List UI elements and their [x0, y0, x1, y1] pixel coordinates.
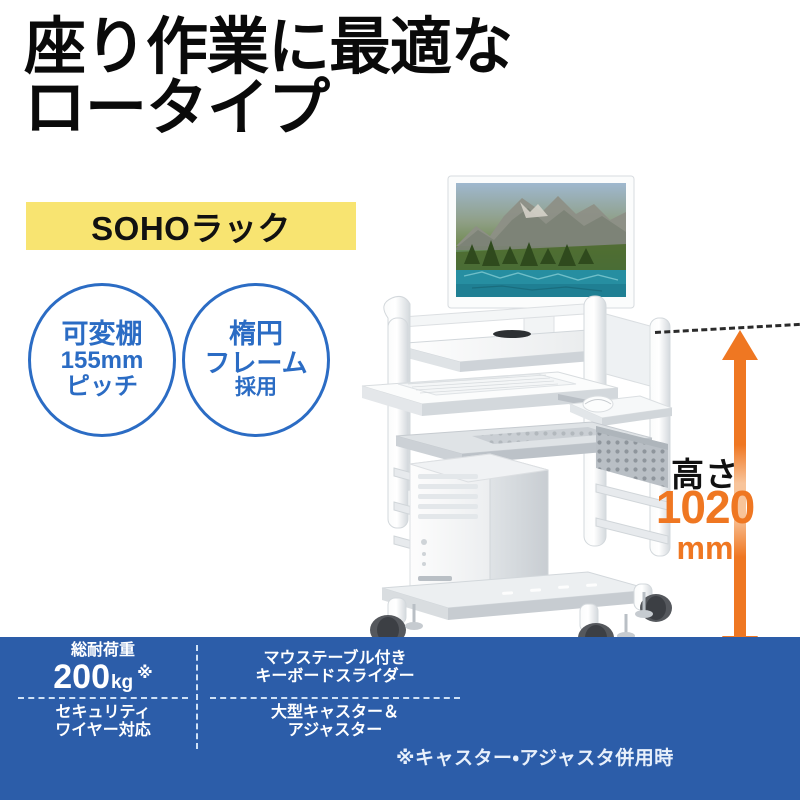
height-value: 1020: [630, 486, 780, 530]
category-band: SOHOラック: [26, 202, 356, 250]
footer-item-line-1: 大型キャスター＆: [271, 704, 399, 722]
load-capacity-value: 200 kg ※: [53, 660, 152, 694]
badge-adjustable-shelf: 可変棚 155mm ピッチ: [28, 283, 176, 437]
height-unit: mm: [630, 530, 780, 567]
footer-note: ※キャスター・アジャスタ併用時: [396, 743, 796, 770]
footer-item-line-1: セキュリティ: [55, 704, 150, 722]
badge-line-3: ピッチ: [66, 374, 138, 400]
asterisk-mark: ※: [137, 665, 153, 683]
footer-divider-horizontal-right: [210, 697, 460, 699]
category-band-label: SOHOラック: [91, 202, 291, 250]
footer-item-line-1: マウステーブル付き: [263, 650, 406, 668]
footer-item-casters-adjusters: 大型キャスター＆ アジャスター: [210, 695, 460, 749]
badge-oval-frame: 楕円 フレーム 採用: [182, 283, 330, 437]
footer-item-security-wire: セキュリティ ワイヤー対応: [18, 695, 188, 749]
badge-line-1: 楕円: [229, 320, 283, 349]
product-photo: [352, 168, 724, 648]
ad-canvas: 座り作業に最適な ロータイプ SOHOラック 可変棚 155mm ピッチ 楕円 …: [0, 0, 800, 800]
footer-item-total-load-capacity: 総耐荷重 200 kg ※: [18, 641, 188, 695]
footer-col-left: 総耐荷重 200 kg ※ セキュリティ ワイヤー対応: [18, 641, 188, 749]
footer-divider-horizontal-left: [18, 697, 188, 699]
badge-line-2: フレーム: [204, 349, 307, 377]
footer-col-right: マウステーブル付き キーボードスライダー 大型キャスター＆ アジャスター: [210, 641, 460, 749]
footer-item-keyboard-slider: マウステーブル付き キーボードスライダー: [210, 641, 460, 695]
badge-line-1: 可変棚: [62, 320, 143, 349]
feature-footer: 総耐荷重 200 kg ※ セキュリティ ワイヤー対応 マウステーブル付き キー…: [0, 637, 800, 800]
load-capacity-unit: kg: [111, 672, 133, 694]
footer-item-line-2: アジャスター: [288, 722, 383, 740]
badge-line-3: 採用: [235, 377, 277, 400]
footer-divider-vertical: [196, 645, 198, 749]
page-title: 座り作業に最適な ロータイプ: [24, 18, 624, 140]
load-capacity-number: 200: [53, 660, 110, 694]
badge-line-2: 155mm: [61, 348, 144, 374]
footer-item-line-2: キーボードスライダー: [255, 668, 414, 686]
footer-item-line-2: ワイヤー対応: [55, 722, 151, 740]
